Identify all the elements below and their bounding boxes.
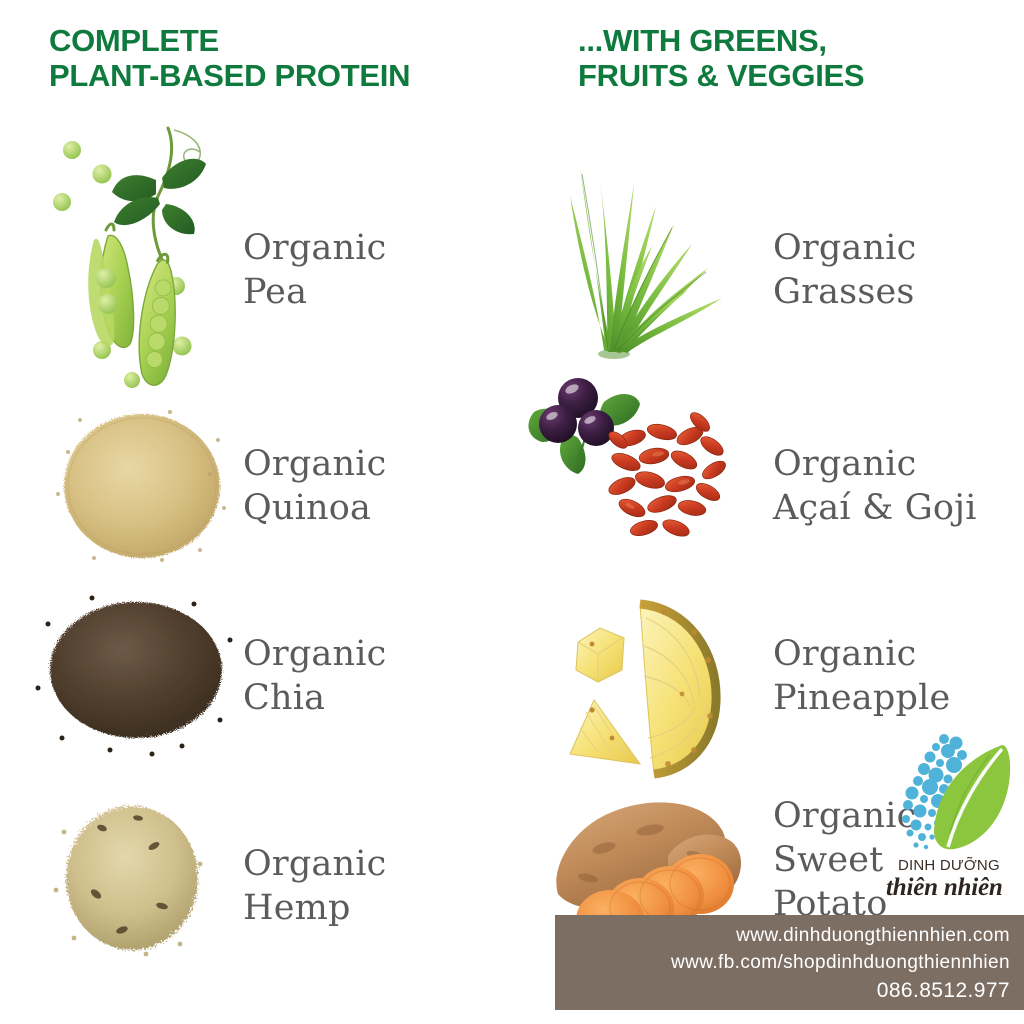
quinoa-pile-photo [50,398,240,570]
watermark-footer-bar: www.dinhduongthiennhien.com www.fb.com/s… [555,915,1024,1010]
acai-and-goji-berries-photo [526,376,758,548]
leaf-icon [934,745,1010,849]
item-label-acai-goji: Organic Açaí & Goji [773,443,977,531]
hemp-hearts-pile-photo [50,798,220,958]
wheatgrass-blades-photo [556,150,756,372]
item-label-hemp: Organic Hemp [243,843,386,931]
logo-mark-icon [880,733,1024,859]
infographic-canvas: COMPLETE PLANT-BASED PROTEIN ...WITH GRE… [0,0,1024,1024]
pineapple-slices-photo [556,596,736,776]
footer-website-url[interactable]: www.dinhduongthiennhien.com [736,925,1010,947]
heading-left-column: COMPLETE PLANT-BASED PROTEIN [49,24,410,93]
brand-logo[interactable]: DINH DƯỠNG thiên nhiên [880,733,1024,915]
pea-pods-photo [50,118,250,386]
footer-phone-number[interactable]: 086.8512.977 [877,979,1010,1003]
logo-text-dinh-duong: DINH DƯỠNG [898,857,1000,874]
item-label-chia: Organic Chia [243,633,386,721]
item-label-pea: Organic Pea [243,227,386,315]
chia-seeds-pile-photo [32,588,238,760]
item-label-grasses: Organic Grasses [773,227,916,315]
heading-right-column: ...WITH GREENS, FRUITS & VEGGIES [578,24,864,93]
logo-text-thien-nhien: thiên nhiên [886,874,1003,902]
footer-facebook-url[interactable]: www.fb.com/shopdinhduongthiennhien [671,952,1010,974]
item-label-quinoa: Organic Quinoa [243,443,386,531]
item-label-pineapple: Organic Pineapple [773,633,950,721]
